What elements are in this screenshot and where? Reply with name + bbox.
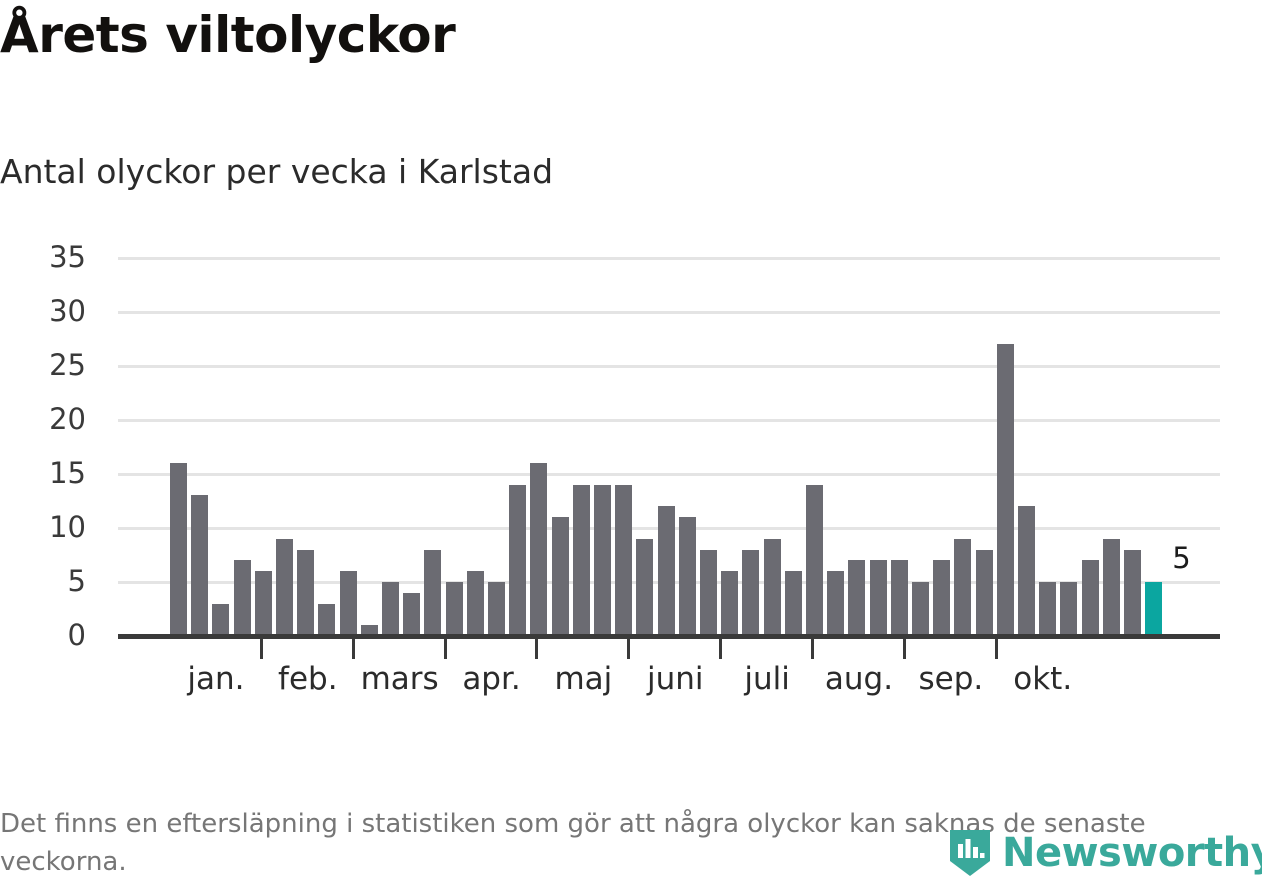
x-axis-month-label: okt.	[1013, 662, 1072, 696]
bar[interactable]	[170, 463, 187, 636]
bar[interactable]	[827, 571, 844, 636]
bar[interactable]	[1082, 560, 1099, 636]
bar[interactable]	[509, 485, 526, 636]
x-axis-month-label: juni	[647, 662, 704, 696]
plot-area: 5	[118, 236, 1220, 636]
bar[interactable]	[785, 571, 802, 636]
x-axis-tick	[535, 639, 538, 659]
bar[interactable]	[1060, 582, 1077, 636]
gridline	[118, 419, 1220, 422]
x-axis-tick	[719, 639, 722, 659]
bar[interactable]	[976, 550, 993, 636]
y-axis-tick-label: 30	[16, 297, 86, 326]
bar[interactable]	[870, 560, 887, 636]
page-title: Årets viltolyckor	[0, 8, 455, 63]
bar[interactable]	[764, 539, 781, 636]
chart-subtitle: Antal olyckor per vecka i Karlstad	[0, 152, 553, 192]
bar[interactable]	[552, 517, 569, 636]
bar[interactable]	[488, 582, 505, 636]
x-axis-month-label: sep.	[918, 662, 983, 696]
x-axis-tick	[811, 639, 814, 659]
x-axis-tick	[444, 639, 447, 659]
x-axis-month-label: jan.	[187, 662, 244, 696]
bar[interactable]	[212, 604, 229, 636]
bar[interactable]	[721, 571, 738, 636]
x-axis-tick	[352, 639, 355, 659]
bar-chart-shield-icon	[948, 828, 992, 878]
bar[interactable]	[594, 485, 611, 636]
bar[interactable]	[679, 517, 696, 636]
x-axis-month-label: aug.	[825, 662, 893, 696]
x-axis-tick	[627, 639, 630, 659]
x-axis-tick	[995, 639, 998, 659]
bar[interactable]	[424, 550, 441, 636]
bar[interactable]	[467, 571, 484, 636]
bar[interactable]	[340, 571, 357, 636]
gridline	[118, 257, 1220, 260]
y-axis-tick-label: 15	[16, 459, 86, 488]
bar[interactable]	[1124, 550, 1141, 636]
y-axis-tick-label: 5	[16, 567, 86, 596]
bar[interactable]	[1018, 506, 1035, 636]
y-axis-tick-label: 25	[16, 351, 86, 380]
bar[interactable]	[1103, 539, 1120, 636]
gridline	[118, 473, 1220, 476]
bar[interactable]	[636, 539, 653, 636]
bar-value-label: 5	[1172, 544, 1190, 573]
y-axis-tick-label: 0	[16, 621, 86, 650]
bar[interactable]	[276, 539, 293, 636]
bar[interactable]	[1145, 582, 1162, 636]
x-axis-tick	[903, 639, 906, 659]
bar[interactable]	[700, 550, 717, 636]
x-axis-month-label: mars	[361, 662, 439, 696]
newsworthy-logo: Newsworthy	[948, 828, 1262, 878]
gridline	[118, 311, 1220, 314]
bar[interactable]	[848, 560, 865, 636]
x-axis-month-label: maj	[554, 662, 612, 696]
bar[interactable]	[891, 560, 908, 636]
y-axis-tick-label: 35	[16, 243, 86, 272]
x-axis-month-label: apr.	[462, 662, 520, 696]
bar[interactable]	[806, 485, 823, 636]
chart-page: Årets viltolyckor Antal olyckor per veck…	[0, 0, 1262, 879]
bar[interactable]	[530, 463, 547, 636]
bar[interactable]	[318, 604, 335, 636]
gridline	[118, 365, 1220, 368]
bar[interactable]	[297, 550, 314, 636]
x-axis-month-label: feb.	[278, 662, 338, 696]
bar[interactable]	[658, 506, 675, 636]
bar[interactable]	[446, 582, 463, 636]
bar[interactable]	[742, 550, 759, 636]
bar[interactable]	[191, 495, 208, 636]
bar[interactable]	[1039, 582, 1056, 636]
y-axis-tick-label: 10	[16, 513, 86, 542]
x-axis-month-label: juli	[744, 662, 790, 696]
bar[interactable]	[382, 582, 399, 636]
bar-chart: 5 05101520253035jan.feb.marsapr.majjunij…	[0, 236, 1262, 716]
bar[interactable]	[997, 344, 1014, 636]
bar[interactable]	[954, 539, 971, 636]
bar[interactable]	[615, 485, 632, 636]
bar[interactable]	[912, 582, 929, 636]
bar[interactable]	[234, 560, 251, 636]
logo-wordmark: Newsworthy	[1002, 833, 1262, 873]
x-axis-tick	[260, 639, 263, 659]
y-axis-tick-label: 20	[16, 405, 86, 434]
bar[interactable]	[255, 571, 272, 636]
bar[interactable]	[403, 593, 420, 636]
x-axis-line	[118, 634, 1220, 639]
bar[interactable]	[933, 560, 950, 636]
bar[interactable]	[573, 485, 590, 636]
